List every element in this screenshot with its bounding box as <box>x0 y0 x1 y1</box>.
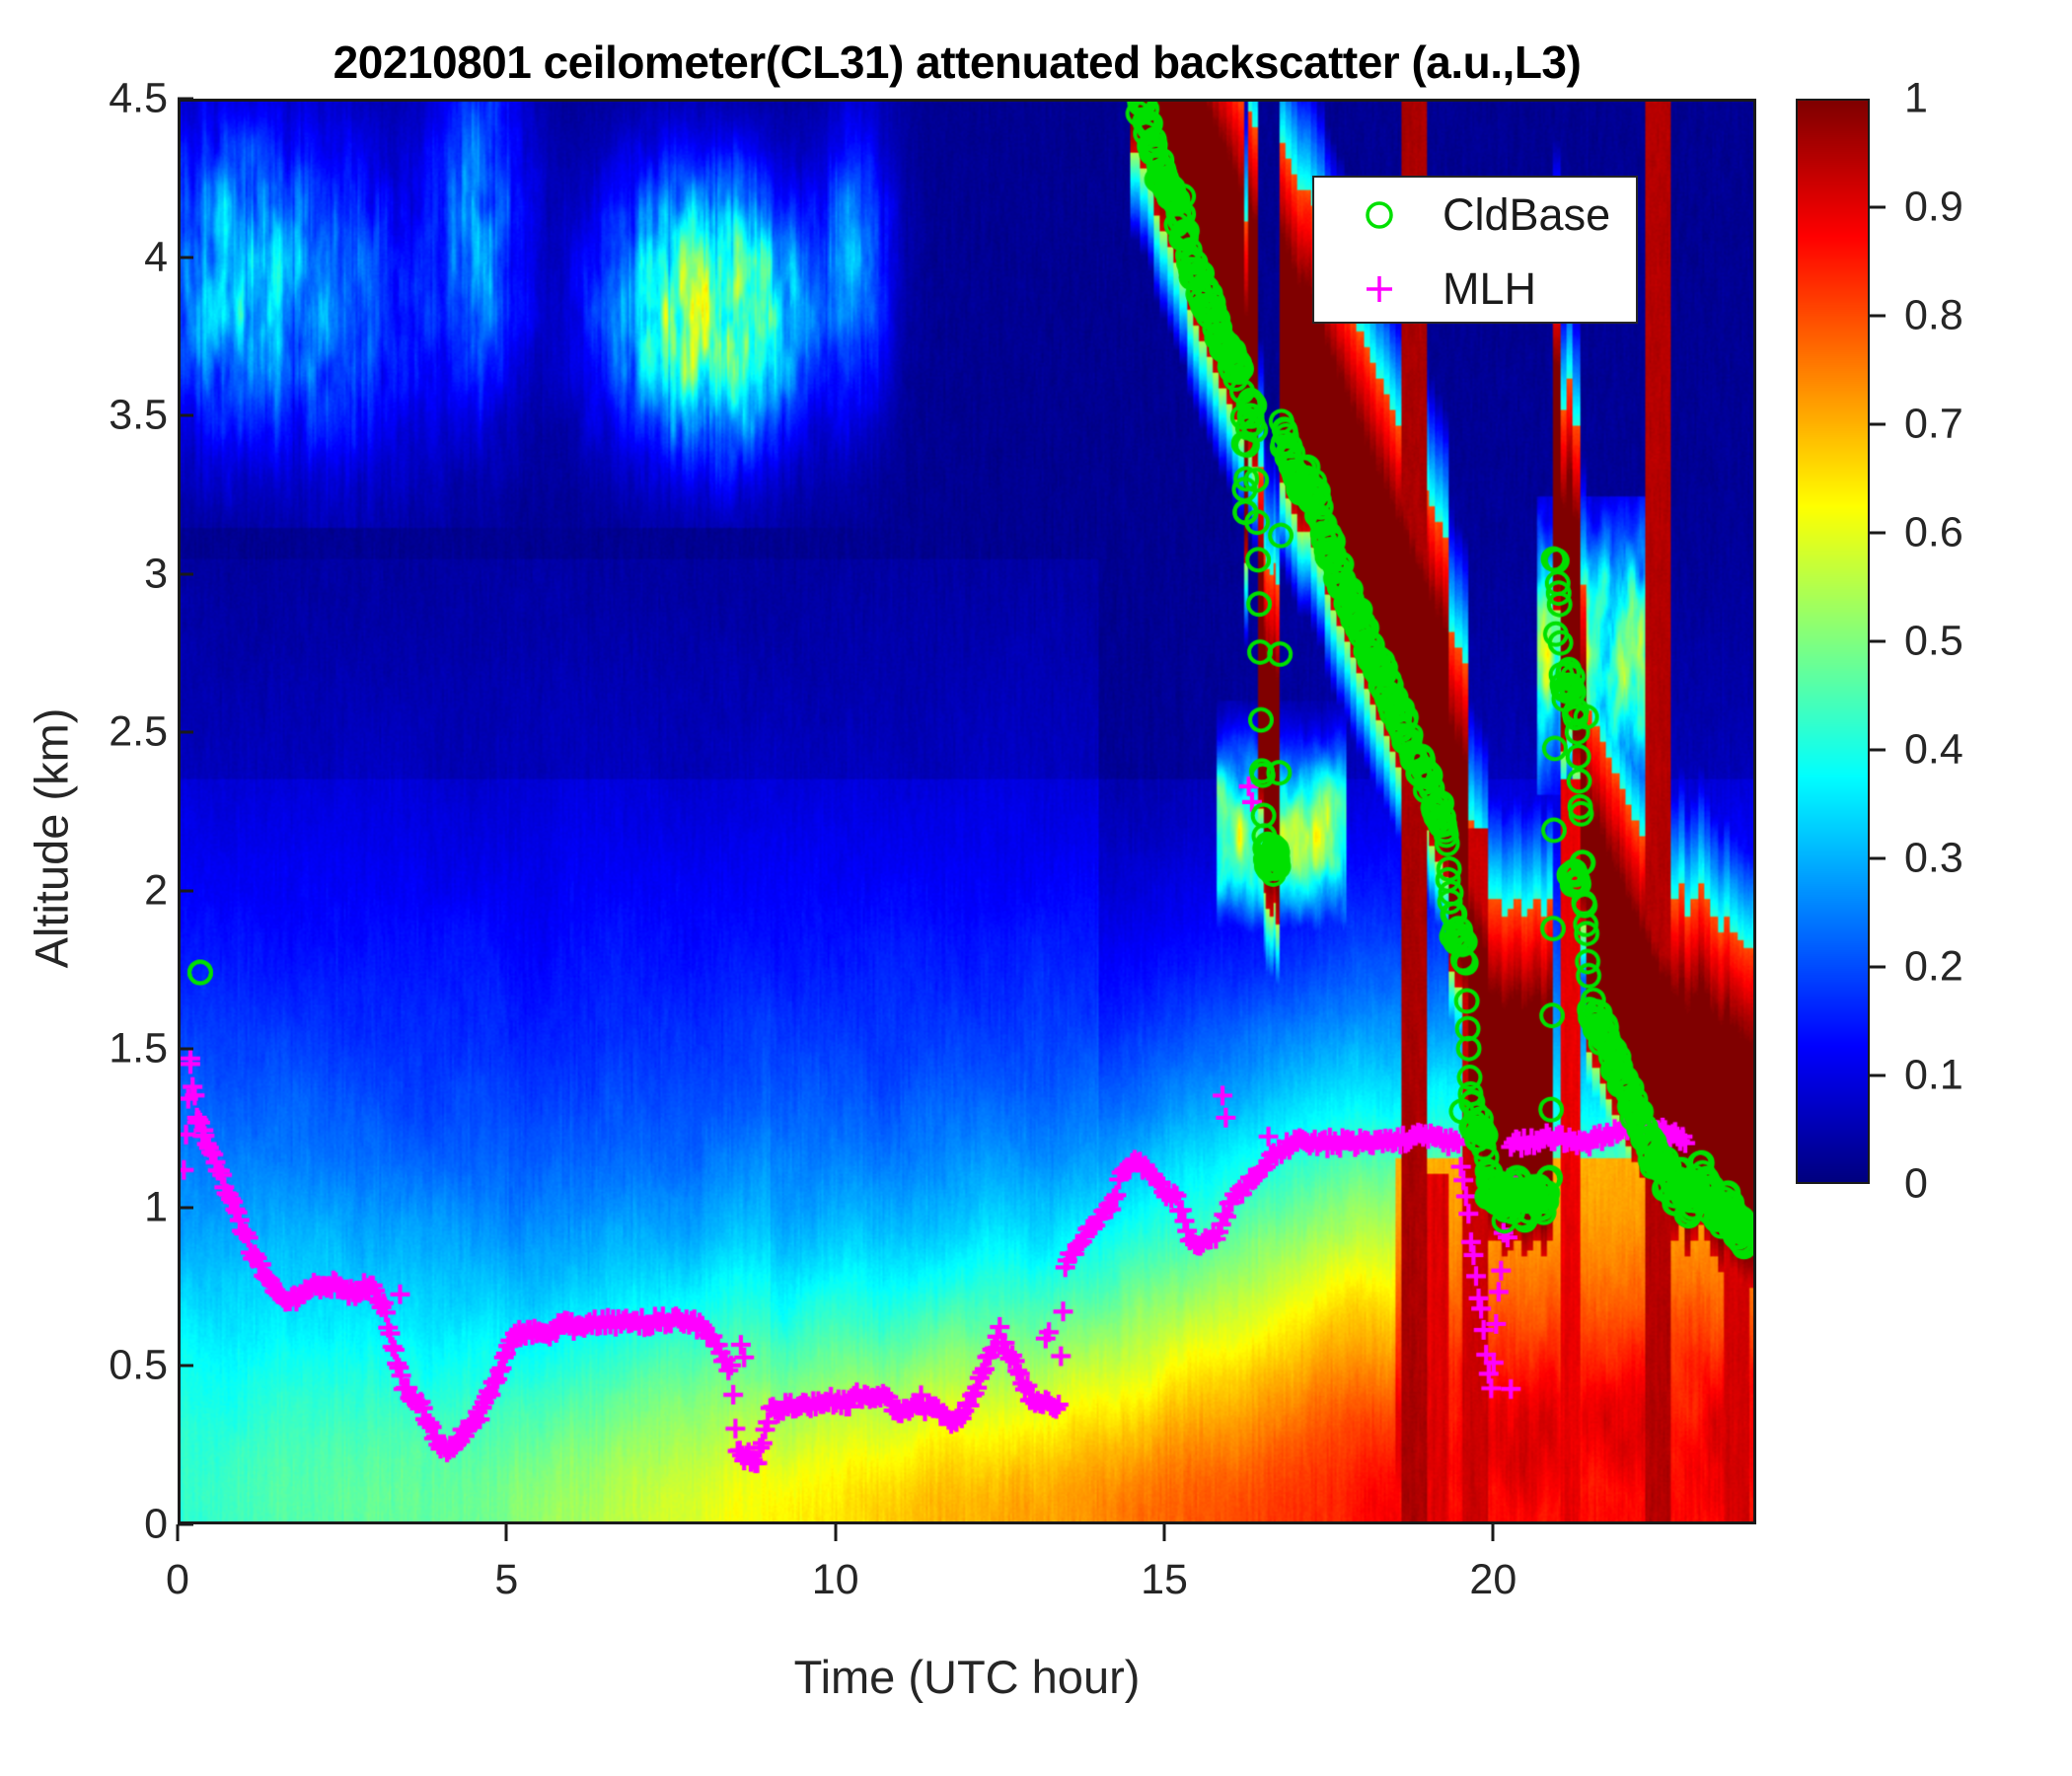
colorbar-tick-mark <box>1870 532 1886 535</box>
x-tick-mark <box>177 1524 180 1541</box>
colorbar-tick-label: 0.6 <box>1904 509 1963 557</box>
y-tick-mark <box>178 1206 193 1209</box>
legend-item-mlh: MLH <box>1314 252 1636 326</box>
y-tick-mark <box>178 414 193 417</box>
x-tick-label: 0 <box>79 1556 276 1604</box>
x-tick-mark <box>1163 1524 1166 1541</box>
colorbar-tick-label: 0.8 <box>1904 292 1963 340</box>
colorbar-tick-mark <box>1870 1074 1886 1077</box>
x-tick-label: 20 <box>1394 1556 1591 1604</box>
colorbar-tick-mark <box>1870 206 1886 209</box>
colorbar-tick-label: 0.2 <box>1904 943 1963 992</box>
x-tick-mark <box>505 1524 508 1541</box>
y-tick-label: 1 <box>20 1183 168 1231</box>
colorbar-tick-label: 0.1 <box>1904 1052 1963 1100</box>
y-axis-label: Altitude (km) <box>25 523 79 1154</box>
y-tick-mark <box>178 1365 193 1368</box>
colorbar-tick-label: 0.3 <box>1904 835 1963 883</box>
x-axis-label: Time (UTC hour) <box>178 1650 1756 1704</box>
y-tick-mark <box>178 572 193 575</box>
plus-icon <box>1362 271 1397 307</box>
figure-root: 20210801 ceilometer(CL31) attenuated bac… <box>0 0 2072 1776</box>
x-tick-mark <box>834 1524 837 1541</box>
x-tick-label: 15 <box>1066 1556 1263 1604</box>
circle-open-icon <box>1362 197 1397 233</box>
colorbar-tick-mark <box>1870 640 1886 643</box>
y-tick-mark <box>178 256 193 259</box>
x-tick-label: 10 <box>737 1556 934 1604</box>
y-tick-label: 0 <box>20 1501 168 1549</box>
colorbar-tick-mark <box>1870 315 1886 318</box>
legend-label-cldbase: CldBase <box>1443 189 1610 241</box>
colorbar-tick-mark <box>1870 423 1886 426</box>
y-tick-label: 4 <box>20 233 168 281</box>
y-tick-mark <box>178 98 193 101</box>
colorbar-tick-label: 0.4 <box>1904 726 1963 775</box>
chart-title: 20210801 ceilometer(CL31) attenuated bac… <box>0 36 1914 89</box>
y-tick-label: 3.5 <box>20 392 168 440</box>
colorbar-tick-label: 0.9 <box>1904 184 1963 232</box>
x-tick-mark <box>1492 1524 1495 1541</box>
colorbar-tick-mark <box>1870 857 1886 860</box>
colorbar-tick-label: 0.5 <box>1904 618 1963 666</box>
y-tick-mark <box>178 889 193 892</box>
y-tick-label: 4.5 <box>20 75 168 123</box>
colorbar-tick-mark <box>1870 749 1886 752</box>
colorbar-tick-mark <box>1870 966 1886 969</box>
colorbar-tick-label: 1 <box>1904 75 1928 123</box>
y-tick-label: 0.5 <box>20 1342 168 1390</box>
legend-label-mlh: MLH <box>1443 263 1536 315</box>
y-tick-mark <box>178 1048 193 1051</box>
legend: CldBase MLH <box>1312 176 1638 324</box>
colorbar-tick-label: 0 <box>1904 1160 1928 1209</box>
colorbar-tick-label: 0.7 <box>1904 401 1963 449</box>
x-tick-label: 5 <box>407 1556 605 1604</box>
y-tick-mark <box>178 731 193 734</box>
y-tick-mark <box>178 1523 193 1526</box>
legend-item-cldbase: CldBase <box>1314 178 1636 252</box>
colorbar <box>1796 99 1870 1184</box>
